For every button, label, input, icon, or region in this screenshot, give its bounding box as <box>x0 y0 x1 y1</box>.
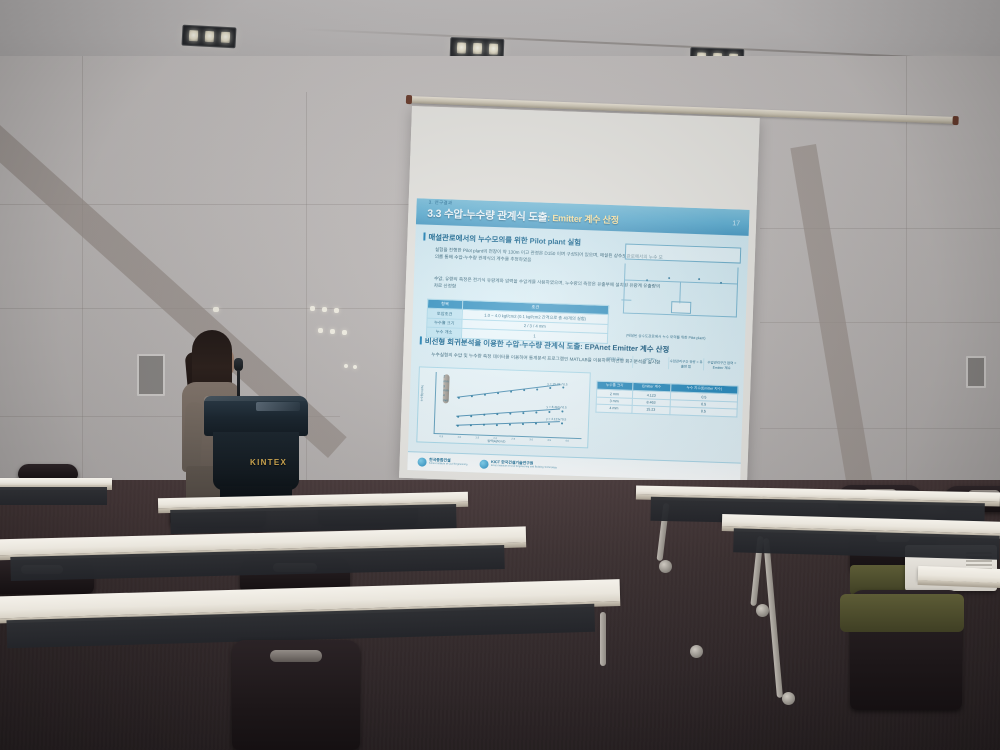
chart-point <box>471 395 473 397</box>
slide-title-main: 3.3 수압-누수량 관계식 도출 <box>427 208 547 224</box>
footer-logo-1: 한국종합건설 Korea Institute of Civil Engineer… <box>417 457 467 468</box>
chart-point <box>496 424 498 426</box>
ceiling-light-icon <box>181 25 236 49</box>
schematic-pipe <box>623 264 626 314</box>
schematic-box <box>625 244 741 264</box>
legend-entry: 2 mm <box>443 374 449 384</box>
wall-seam <box>760 428 1000 429</box>
chart-point <box>483 414 485 416</box>
chart-xtick: 2.5 <box>511 438 515 441</box>
chart-xtick: 4.0 <box>565 440 569 443</box>
slide-formula-strip: 에미터 공식 q=CP^γ 수압관리구간 유량 = 유출량 합 수압관리구간 압… <box>597 355 739 372</box>
light-reflection <box>330 329 335 334</box>
chart-point <box>457 416 459 418</box>
roller-end-cap <box>952 116 958 125</box>
podium: KINTEX <box>204 396 308 508</box>
chart-point <box>523 389 525 391</box>
chart-equation-4mm: y = 15.23x^0.5 <box>547 382 567 387</box>
wall-seam <box>0 308 420 309</box>
presentation-slide: 3. 연구결과 3.3 수압-누수량 관계식 도출: Emitter 계수 산정… <box>407 198 749 481</box>
formula-cell: q=CP^γ <box>633 356 669 369</box>
formula-cell: 에미터 공식 <box>597 355 633 368</box>
chart-xtick: 0.5 <box>439 435 443 438</box>
light-reflection <box>353 365 357 369</box>
light-reflection <box>213 307 219 312</box>
podium-top <box>204 396 308 436</box>
chart-point <box>548 411 550 413</box>
podium-venue-logo: KINTEX <box>250 458 287 467</box>
schematic-node <box>646 279 648 281</box>
lecture-room-photo: 3. 연구결과 3.3 수압-누수량 관계식 도출: Emitter 계수 산정… <box>0 0 1000 750</box>
chart-point <box>497 392 499 394</box>
roller-end-cap <box>406 95 412 104</box>
chart-equation-3mm: y = 8.463x^0.5 <box>547 405 567 410</box>
chart-point <box>470 415 472 417</box>
schematic-pump <box>671 301 691 314</box>
section2-heading-sub: : EPAnet Emitter 계수 산정 <box>580 342 669 354</box>
table-caster <box>756 604 769 617</box>
chart-point <box>470 424 472 426</box>
table-right-row3[interactable] <box>918 566 1000 584</box>
logo-text: 한국종합건설 Korea Institute of Civil Engineer… <box>429 458 468 467</box>
chair-seat-cushion <box>840 594 964 632</box>
wall-seam <box>82 56 83 490</box>
schematic-pipe <box>679 281 681 303</box>
chair-foreground[interactable] <box>232 640 360 750</box>
slide-title-sub: : Emitter 계수 산정 <box>547 213 619 225</box>
chart-point <box>483 424 485 426</box>
slide-regression-chart: 2 mm 3 mm 4 mm <box>416 366 591 448</box>
organization-logo-icon <box>479 459 488 468</box>
chart-point <box>510 391 512 393</box>
chart-point <box>562 386 564 388</box>
wall-seam <box>760 228 1000 229</box>
chart-point <box>457 425 459 427</box>
chart-x-label: 압력(kgf/cm2) <box>487 439 505 444</box>
logo-subtitle: Korea Institute of Civil Engineering <box>429 463 467 467</box>
chart-point <box>522 412 524 414</box>
light-reflection <box>322 307 327 312</box>
light-reflection <box>334 308 339 313</box>
schematic-node <box>720 282 722 284</box>
logo-text: KICT 한국건설기술연구원 Korea Institute of Civil … <box>491 460 557 470</box>
table-caster <box>659 560 672 573</box>
wall-control-panel[interactable] <box>137 354 165 396</box>
light-reflection <box>318 328 323 333</box>
chart-point <box>535 422 537 424</box>
chart-xtick: 3.0 <box>529 438 533 441</box>
chart-xtick: 1.0 <box>457 436 461 439</box>
chart-equation-2mm: y = 4.123x^0.5 <box>546 417 566 422</box>
wall-seam <box>760 322 1000 323</box>
slide-table-emitter: 누수홀 크기 Emitter 계수 누수 지수(Emitter 지수) 2 mm… <box>595 381 738 417</box>
table-cell: 0.5 <box>670 407 737 417</box>
chart-point <box>535 411 537 413</box>
chart-point <box>484 394 486 396</box>
chart-point <box>549 387 551 389</box>
slide-page-number: 17 <box>732 220 740 227</box>
projection-screen: 3. 연구결과 3.3 수압-누수량 관계식 도출: Emitter 계수 산정… <box>399 106 760 490</box>
table-leg <box>600 612 606 666</box>
chair-handle-slot <box>270 650 321 662</box>
table-surface <box>0 478 112 485</box>
chart-x-axis <box>434 433 582 439</box>
chart-xtick: 1.5 <box>475 436 479 439</box>
organization-logo-icon <box>417 457 426 466</box>
table-cell: 15.23 <box>632 405 670 414</box>
table-caster <box>782 692 795 705</box>
table-back-left[interactable] <box>0 478 112 485</box>
table-caster <box>690 645 703 658</box>
chart-xtick: 3.5 <box>547 439 551 442</box>
chart-legend: 2 mm 3 mm 4 mm <box>443 374 450 403</box>
table-cell: 4 mm <box>596 404 632 413</box>
presenter-arm <box>182 402 204 473</box>
chair-seat-right[interactable] <box>840 592 964 632</box>
footer-logo-2: KICT 한국건설기술연구원 Korea Institute of Civil … <box>479 459 557 471</box>
light-reflection <box>310 306 315 311</box>
chart-point <box>458 397 460 399</box>
schematic-node <box>698 278 700 280</box>
chart-point <box>561 422 563 424</box>
chart-y-label: 누수량(m3/hr) <box>420 385 425 402</box>
slide-title: 3.3 수압-누수량 관계식 도출: Emitter 계수 산정 <box>427 206 619 228</box>
light-reflection <box>344 364 348 368</box>
chart-point <box>561 410 563 412</box>
chart-point <box>522 423 524 425</box>
legend-entry: 4 mm <box>443 393 449 403</box>
schematic-node <box>668 277 670 279</box>
chart-point <box>509 424 511 426</box>
table-apron <box>0 487 107 505</box>
formula-cell: 수압관리구간 유량 = 유출량 합 <box>668 357 704 370</box>
chart-y-axis <box>434 372 437 434</box>
chart-point <box>548 423 550 425</box>
formula-cell: 수압관리구간 압력 = Emitter 계수 <box>704 358 739 371</box>
legend-entry: 3 mm <box>443 384 449 394</box>
light-reflection <box>342 330 347 335</box>
podium-highlight <box>256 402 300 411</box>
slide-pilot-plant-schematic <box>618 241 743 337</box>
logo-subtitle: Korea Institute of Civil Engineering and… <box>491 465 557 470</box>
chart-point <box>496 413 498 415</box>
wall-vent <box>966 356 986 388</box>
chart-point <box>509 413 511 415</box>
schematic-pipe <box>736 267 739 317</box>
chart-point <box>536 389 538 391</box>
